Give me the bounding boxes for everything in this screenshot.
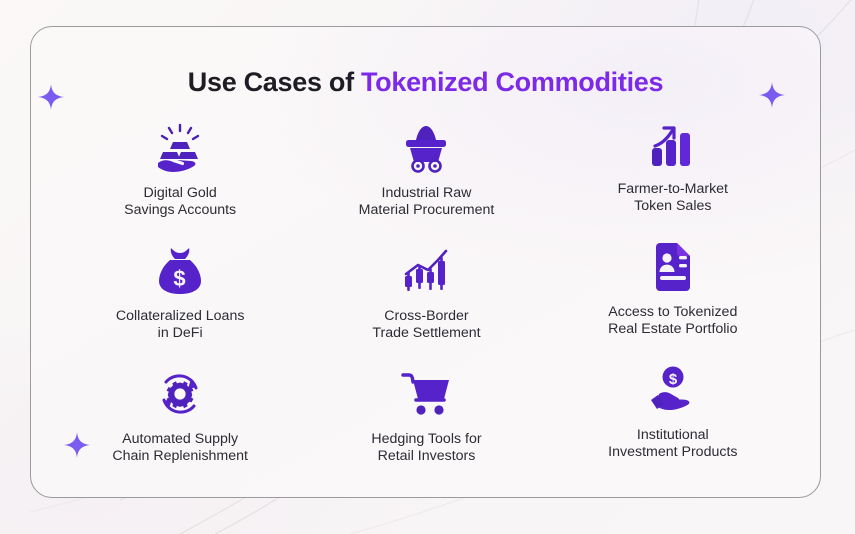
use-case-item-collateralized-loans-in-defi[interactable]: $ Collateralized Loans in DeFi — [57, 242, 303, 365]
use-case-item-automated-supply-chain-replenishment[interactable]: Automated Supply Chain Replenishment — [57, 365, 303, 488]
svg-text:$: $ — [174, 266, 186, 291]
use-case-label: Hedging Tools for Retail Investors — [371, 431, 481, 465]
use-case-item-industrial-raw-material-procurement[interactable]: Industrial Raw Material Procurement — [303, 119, 549, 242]
page-title-accent: Tokenized Commodities — [361, 67, 663, 97]
use-case-label: Cross-Border Trade Settlement — [372, 308, 480, 342]
use-case-label: Institutional Investment Products — [608, 427, 737, 461]
use-case-grid: Digital Gold Savings Accounts Industria — [57, 119, 796, 488]
use-case-label: Access to Tokenized Real Estate Portfoli… — [608, 304, 737, 338]
use-case-item-farmer-to-market-token-sales[interactable]: Farmer-to-Market Token Sales — [550, 115, 796, 242]
content-card: Use Cases of Tokenized Commodities — [30, 26, 821, 498]
page-title: Use Cases of Tokenized Commodities — [31, 67, 820, 98]
hand-holding-coin-icon: $ — [648, 361, 698, 419]
use-case-label: Automated Supply Chain Replenishment — [112, 431, 248, 465]
money-bag-dollar-icon: $ — [157, 242, 203, 300]
use-case-item-hedging-tools-for-retail-investors[interactable]: Hedging Tools for Retail Investors — [303, 365, 549, 488]
infographic-canvas: Use Cases of Tokenized Commodities — [0, 0, 855, 534]
use-case-item-cross-border-trade-settlement[interactable]: Cross-Border Trade Settlement — [303, 242, 549, 365]
use-case-label: Farmer-to-Market Token Sales — [618, 181, 728, 215]
id-document-person-icon — [652, 238, 694, 296]
use-case-item-access-to-tokenized-real-estate-portfolio[interactable]: Access to Tokenized Real Estate Portfoli… — [550, 238, 796, 365]
page-title-plain: Use Cases of — [188, 67, 361, 97]
use-case-label: Digital Gold Savings Accounts — [124, 185, 236, 219]
svg-text:$: $ — [669, 371, 678, 388]
candlestick-chart-icon — [402, 242, 450, 300]
shopping-cart-icon — [401, 365, 451, 423]
gear-refresh-cycle-icon — [155, 365, 205, 423]
mining-cart-icon — [402, 119, 450, 177]
use-case-label: Industrial Raw Material Procurement — [359, 185, 495, 219]
bar-chart-growth-arrow-icon — [650, 115, 696, 173]
use-case-item-institutional-investment-products[interactable]: $ Institutional Investment Products — [550, 361, 796, 488]
use-case-item-digital-gold-savings-accounts[interactable]: Digital Gold Savings Accounts — [57, 119, 303, 242]
use-case-label: Collateralized Loans in DeFi — [116, 308, 245, 342]
hand-holding-gold-bars-icon — [154, 119, 206, 177]
